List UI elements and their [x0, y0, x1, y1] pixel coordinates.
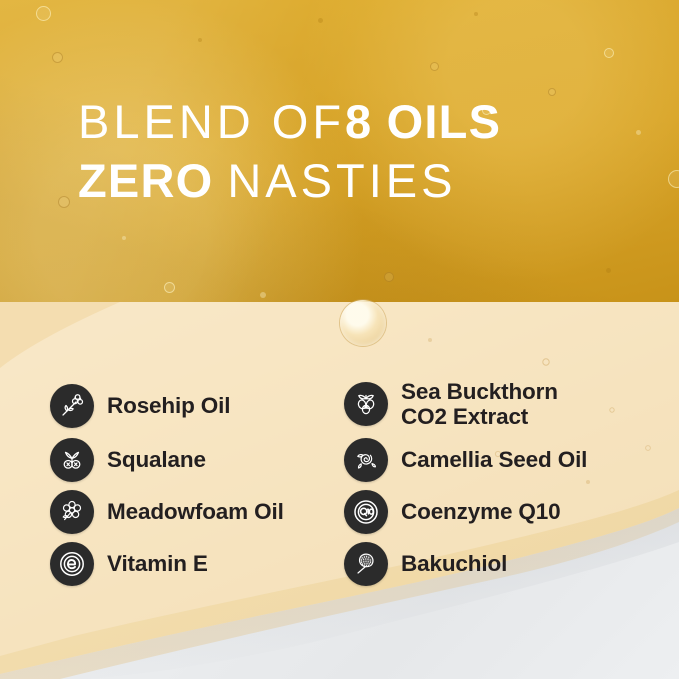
ingredient-label: Coenzyme Q10	[401, 499, 561, 524]
meadowfoam-flower-icon	[50, 490, 94, 534]
camellia-rose-icon	[344, 438, 388, 482]
headline-block: BLEND OF8 OILS ZERONASTIES	[78, 98, 638, 204]
headline-line-2: ZERONASTIES	[78, 157, 638, 204]
ingredient-item-camellia-seed-oil[interactable]: Camellia Seed Oil	[344, 434, 674, 486]
ingredient-label: Rosehip Oil	[107, 393, 230, 418]
ingredient-item-sea-buckthorn-co2-extract[interactable]: Sea BuckthornCO2 Extract	[344, 374, 674, 434]
ingredient-column-right: Sea BuckthornCO2 Extract Camellia Seed O…	[344, 374, 674, 590]
ingredient-label: Camellia Seed Oil	[401, 447, 587, 472]
ingredient-label: Sea BuckthornCO2 Extract	[401, 379, 558, 429]
ingredient-item-vitamin-e[interactable]: Vitamin E	[50, 538, 350, 590]
sea-buckthorn-berries-icon	[344, 382, 388, 426]
bakuchiol-seed-pod-icon	[344, 542, 388, 586]
olive-sprig-icon	[50, 438, 94, 482]
ingredient-item-bakuchiol[interactable]: Bakuchiol	[344, 538, 674, 590]
ingredient-item-rosehip-oil[interactable]: Rosehip Oil	[50, 378, 350, 434]
rosehip-berry-branch-icon	[50, 384, 94, 428]
q10-circle-icon	[344, 490, 388, 534]
headline-line-1: BLEND OF8 OILS	[78, 98, 638, 145]
ingredient-label-line1: Sea Buckthorn	[401, 379, 558, 404]
headline-8-oils: 8 OILS	[345, 95, 501, 148]
ingredient-label-line2: CO2 Extract	[401, 404, 558, 429]
ingredient-item-meadowfoam-oil[interactable]: Meadowfoam Oil	[50, 486, 350, 538]
ingredient-label: Meadowfoam Oil	[107, 499, 284, 524]
headline-blend-of: BLEND OF	[78, 95, 345, 148]
headline-nasties: NASTIES	[227, 154, 456, 207]
ingredient-item-squalane[interactable]: Squalane	[50, 434, 350, 486]
vitamin-e-circle-icon	[50, 542, 94, 586]
product-ingredient-infographic: BLEND OF8 OILS ZERONASTIES	[0, 0, 679, 679]
ingredient-label: Squalane	[107, 447, 206, 472]
ingredient-label: Vitamin E	[107, 551, 208, 576]
ingredient-label: Bakuchiol	[401, 551, 507, 576]
oil-droplet-icon	[340, 300, 386, 346]
ingredient-item-coenzyme-q10[interactable]: Coenzyme Q10	[344, 486, 674, 538]
headline-zero: ZERO	[78, 154, 213, 207]
ingredient-column-left: Rosehip Oil Squalane	[50, 378, 350, 590]
